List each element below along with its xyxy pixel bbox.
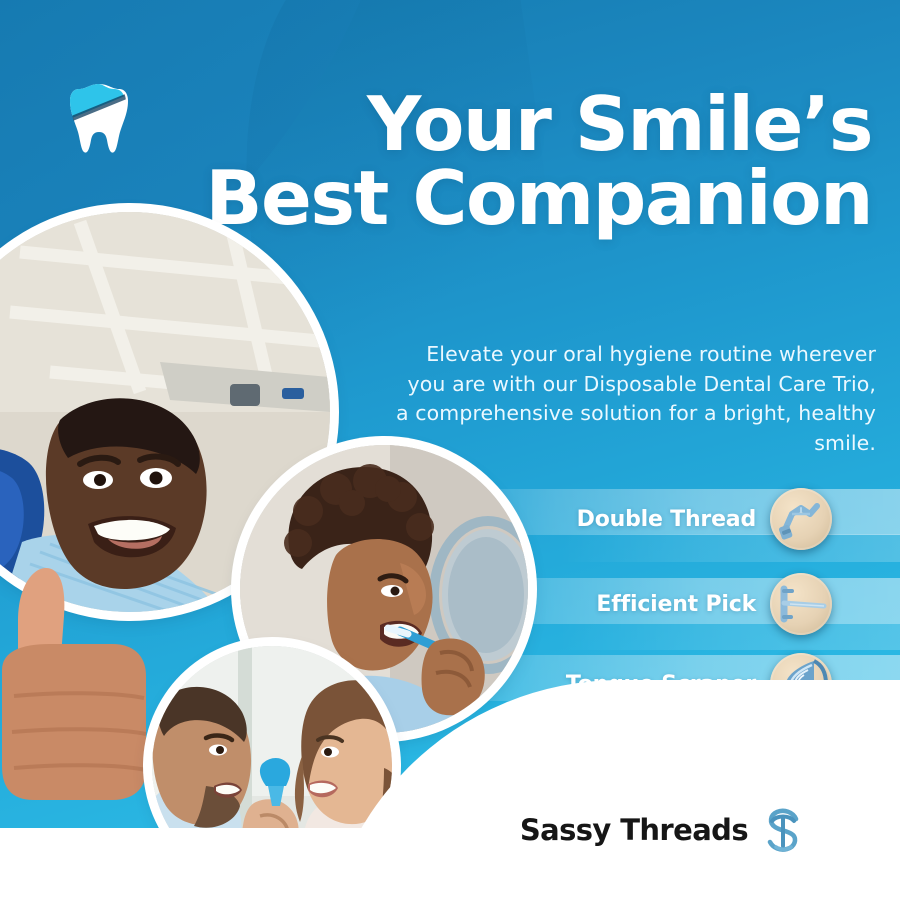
feature-label: Efficient Pick	[596, 592, 756, 617]
sassy-threads-logo-icon	[762, 806, 804, 854]
brand-name: Sassy Threads	[520, 813, 748, 847]
feature-row-efficient-pick: Efficient Pick	[596, 573, 832, 635]
feature-label: Double Thread	[577, 507, 756, 532]
ad-poster: Your Smile’s Best Companion Elevate your…	[0, 0, 900, 900]
body-copy: Elevate your oral hygiene routine wherev…	[396, 340, 876, 458]
thumbs-up-hand	[0, 520, 174, 800]
tooth-icon	[68, 82, 130, 154]
feature-row-double-thread: Double Thread	[577, 488, 832, 550]
brand-lockup: Sassy Threads	[520, 806, 804, 854]
floss-pick-icon	[770, 488, 832, 550]
dental-pick-icon	[770, 573, 832, 635]
